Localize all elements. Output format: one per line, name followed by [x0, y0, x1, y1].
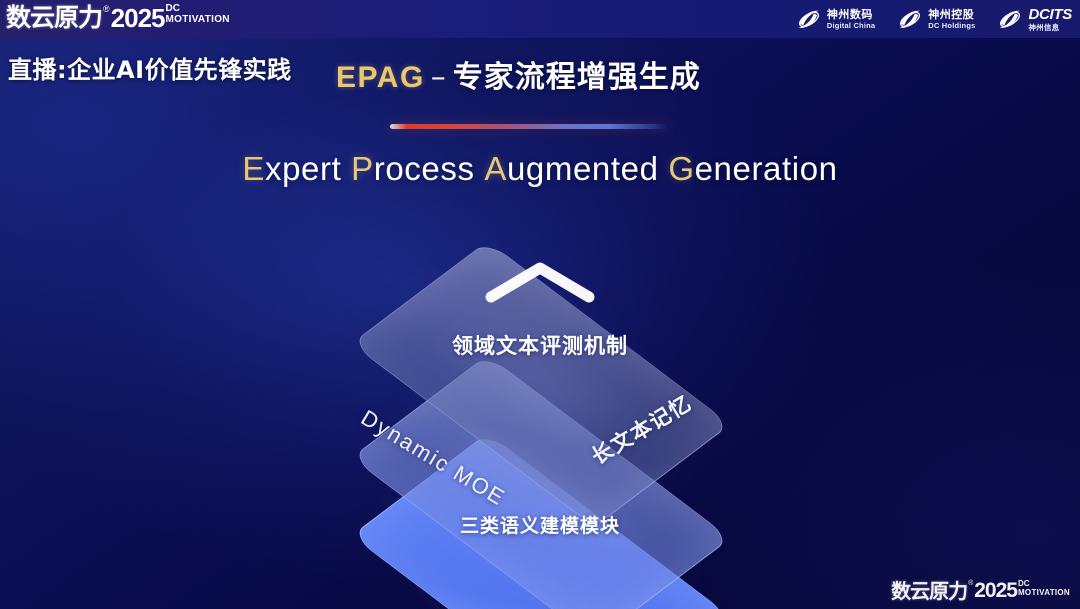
layer-top-label: 领域文本评测机制 — [452, 330, 628, 360]
partner-logo-dc-holdings: 神州控股 DC Holdings — [897, 6, 975, 32]
headline-dash: – — [425, 60, 453, 95]
swirl-icon — [796, 6, 822, 32]
brand-name-cn: 数云原力 — [6, 3, 102, 33]
layer-bottom-label: 三类语义建模模块 — [460, 511, 620, 538]
brand-year: 2025 — [111, 3, 165, 33]
subtitle-expansion: Expert Process Augmented Generation — [0, 150, 1080, 188]
partner-name-cn: 神州数码 — [827, 9, 875, 20]
subtitle-word-1-rest: xpert — [265, 150, 341, 187]
footer-brand-registered-mark: ® — [968, 579, 973, 589]
subtitle-word-2-rest: rocess — [374, 150, 475, 187]
subtitle-word-4-cap: G — [668, 150, 694, 187]
swirl-icon — [997, 6, 1023, 32]
partner-label-digital-china: 神州数码 Digital China — [827, 9, 875, 30]
partner-logo-digital-china: 神州数码 Digital China — [796, 6, 875, 32]
subtitle-space-2 — [475, 150, 485, 187]
brand-dc-label: DC — [166, 4, 230, 14]
footer-brand-dc-motivation: DC MOTIVATION — [1018, 580, 1070, 597]
accent-divider — [390, 124, 670, 129]
slide-canvas: 数云原力 ® 2025 DC MOTIVATION 神州数码 — [0, 0, 1080, 609]
subtitle-word-3-cap: A — [484, 150, 507, 187]
partner-name-cn: 神州控股 — [928, 9, 975, 20]
headline-chinese: 专家流程增强生成 — [453, 60, 701, 95]
subtitle-word-3-rest: ugmented — [507, 150, 659, 187]
page-title: EPAG–专家流程增强生成 — [336, 52, 701, 96]
subtitle-word-4-rest: eneration — [695, 150, 838, 187]
subtitle-word-2-cap: P — [351, 150, 374, 187]
partner-name-cn: DCITS — [1028, 7, 1072, 22]
footer-brand-name-cn: 数云原力 — [891, 579, 967, 603]
subtitle-word-1-cap: E — [242, 150, 265, 187]
layered-architecture-diagram: 领域文本评测机制 Dynamic MOE 长文本记忆 三类语义建模模块 — [275, 225, 805, 575]
partner-label-dcits: DCITS 神州信息 — [1028, 7, 1072, 32]
subtitle-space-3 — [659, 150, 669, 187]
brand-dc-motivation: DC MOTIVATION — [166, 4, 230, 25]
partner-name-en: 神州信息 — [1028, 24, 1072, 32]
header-bar: 数云原力 ® 2025 DC MOTIVATION 神州数码 — [0, 0, 1080, 38]
chevron-up-icon — [485, 261, 595, 303]
partner-label-dc-holdings: 神州控股 DC Holdings — [928, 9, 975, 30]
partner-name-en: DC Holdings — [928, 22, 975, 30]
swirl-icon — [897, 6, 923, 32]
partner-logo-group: 神州数码 Digital China 神州控股 DC Holdings — [796, 6, 1072, 32]
footer-brand-motivation-label: MOTIVATION — [1018, 588, 1070, 597]
brand-logo: 数云原力 ® 2025 DC MOTIVATION — [6, 3, 230, 33]
footer-brand-watermark: 数云原力 ® 2025 DC MOTIVATION — [891, 579, 1070, 603]
subtitle-space-1 — [341, 150, 351, 187]
headline-acronym: EPAG — [336, 61, 425, 94]
partner-logo-dcits: DCITS 神州信息 — [997, 6, 1072, 32]
partner-name-en: Digital China — [827, 22, 875, 30]
brand-registered-mark: ® — [103, 3, 110, 16]
brand-motivation-label: MOTIVATION — [166, 14, 230, 25]
live-broadcast-title: 直播:企业AI价值先锋实践 — [8, 50, 292, 85]
footer-brand-year: 2025 — [974, 579, 1017, 603]
footer-brand-dc-label: DC — [1018, 580, 1070, 588]
